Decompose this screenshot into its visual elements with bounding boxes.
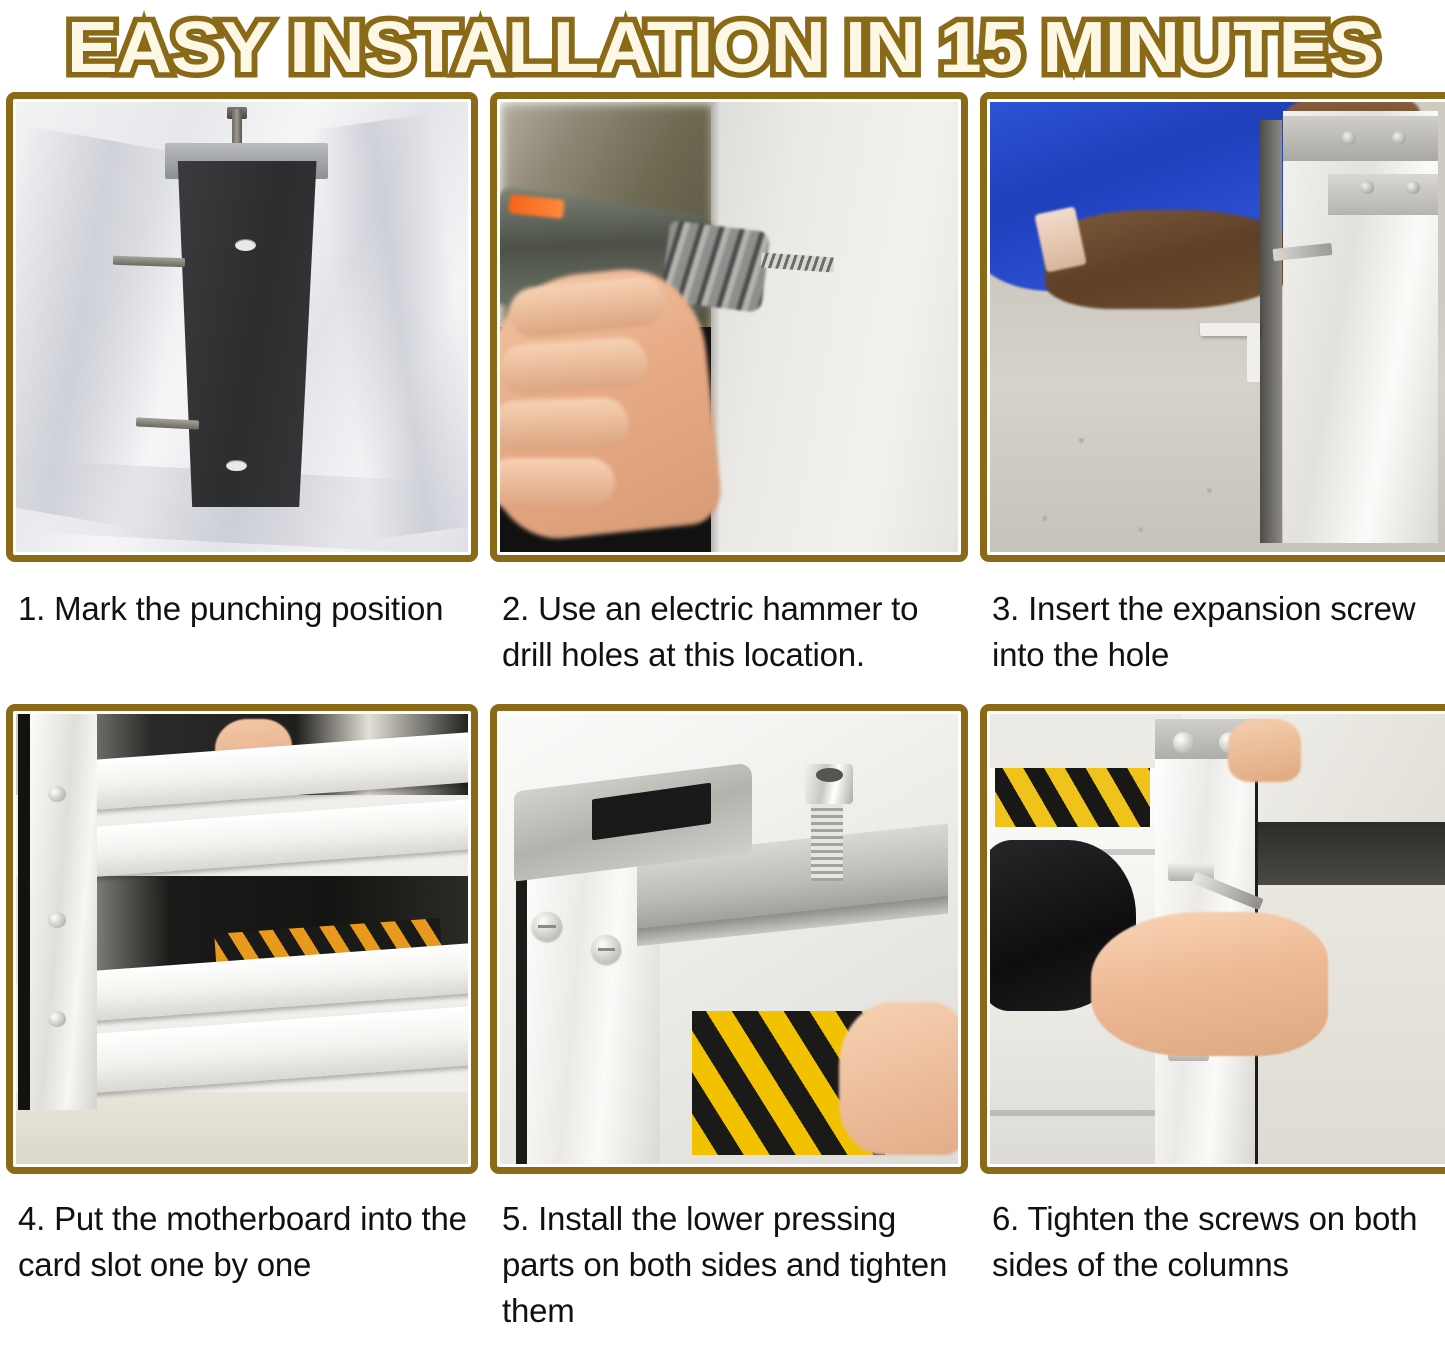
step-photo-frame-4 — [6, 704, 478, 1174]
hand-icon — [839, 1002, 958, 1155]
post-shadow-icon — [1260, 120, 1283, 543]
step-card-1: 1. Mark the punching position — [6, 92, 478, 704]
screw-icon — [1173, 732, 1194, 753]
screw-icon — [48, 786, 66, 802]
step-photo-frame-2 — [490, 92, 968, 562]
screw-icon — [1342, 131, 1356, 145]
step-photo-1 — [16, 102, 468, 552]
screw-icon — [1392, 131, 1406, 145]
step-caption-6: 6. Tighten the screws on both sides of t… — [980, 1174, 1445, 1306]
step-card-4: 4. Put the motherboard into the card slo… — [6, 704, 478, 1334]
step-photo-2 — [500, 102, 958, 552]
step-card-3: 3. Insert the expansion screw into the h… — [980, 92, 1445, 704]
panel-seam-icon — [990, 1110, 1164, 1116]
finger-icon — [500, 458, 615, 508]
step-caption-3: 3. Insert the expansion screw into the h… — [980, 562, 1445, 704]
hazard-stripe-icon — [995, 768, 1150, 827]
step-photo-frame-1 — [6, 92, 478, 562]
step-card-5: 5. Install the lower pressing parts on b… — [490, 704, 968, 1334]
board-icon — [83, 799, 468, 877]
column-icon — [30, 714, 98, 1110]
installation-steps-grid: 1. Mark the punching position 2. Use an … — [0, 92, 1445, 1334]
post-shadow-icon — [516, 876, 527, 1164]
screw-icon — [532, 912, 562, 941]
screw-icon — [48, 912, 66, 928]
step-caption-1: 1. Mark the punching position — [6, 562, 478, 704]
page-title: EASY INSTALLATION IN 15 MINUTES — [67, 9, 1378, 87]
step-card-6: 6. Tighten the screws on both sides of t… — [980, 704, 1445, 1334]
allen-key-icon — [1200, 323, 1259, 337]
step-photo-frame-3 — [980, 92, 1445, 562]
finger-icon — [500, 335, 648, 395]
step-photo-4 — [16, 714, 468, 1164]
bolt-shaft-icon — [811, 804, 843, 881]
step-card-2: 2. Use an electric hammer to drill holes… — [490, 92, 968, 704]
step-caption-4: 4. Put the motherboard into the card slo… — [6, 1174, 478, 1306]
post-plate-icon — [1328, 174, 1438, 215]
step-caption-5: 5. Install the lower pressing parts on b… — [490, 1174, 968, 1334]
hand-icon — [1228, 719, 1301, 782]
step-photo-frame-5 — [490, 704, 968, 1174]
screw-icon — [1360, 181, 1374, 195]
mounting-hole-icon — [235, 239, 256, 251]
screw-icon — [48, 1011, 66, 1027]
wall-icon — [711, 102, 958, 552]
finger-icon — [500, 397, 629, 451]
step-photo-3 — [990, 102, 1445, 552]
bracket-body-icon — [172, 161, 317, 508]
post-cap-icon — [1283, 116, 1438, 161]
screw-icon — [592, 935, 622, 964]
hand-icon — [1091, 912, 1329, 1056]
step-photo-6 — [990, 714, 1445, 1164]
step-photo-5 — [500, 714, 958, 1164]
header-banner: EASY INSTALLATION IN 15 MINUTES — [0, 0, 1445, 92]
screw-icon — [1406, 181, 1420, 195]
bolt-socket-icon — [816, 768, 843, 782]
step-caption-2: 2. Use an electric hammer to drill holes… — [490, 562, 968, 704]
step-photo-frame-6 — [980, 704, 1445, 1174]
board-icon — [82, 1006, 468, 1093]
